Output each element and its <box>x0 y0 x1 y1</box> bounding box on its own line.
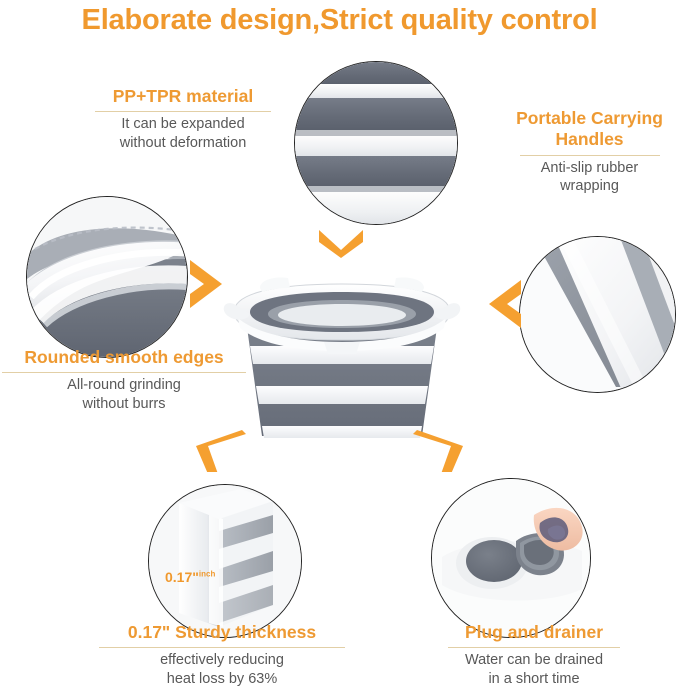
feature-material-subtitle: It can be expanded without deformation <box>70 115 296 152</box>
feature-drainer-rule <box>448 647 620 648</box>
chevron-left-icon <box>487 278 523 330</box>
wall-thickness-graphic <box>149 485 301 637</box>
drain-plug-graphic <box>432 479 590 637</box>
feature-edges-rule <box>2 372 246 373</box>
feature-handles-subtitle: Anti-slip rubber wrapping <box>500 159 679 196</box>
infographic-canvas: Elaborate design,Strict quality control <box>0 0 679 692</box>
feature-handles-rule <box>520 155 660 156</box>
feature-edges-subtitle: All-round grinding without burrs <box>0 376 250 413</box>
chevron-down-icon <box>317 228 365 258</box>
feature-edges-heading: Rounded smooth edges <box>0 347 250 368</box>
striped-bellows-graphic <box>295 62 457 224</box>
feature-thickness-subtitle: effectively reducing heat loss by 63% <box>90 651 354 688</box>
image-striped-bellows-closeup <box>294 61 458 225</box>
feature-material-rule <box>95 111 271 112</box>
image-wall-thickness-closeup: 0.17"inch <box>148 484 302 638</box>
thickness-callout-unit: inch <box>199 569 215 578</box>
feature-drainer-heading: Plug and drainer <box>410 622 658 643</box>
feature-thickness-heading: 0.17" Sturdy thickness <box>90 622 354 643</box>
feature-drainer-subtitle: Water can be drained in a short time <box>410 651 658 688</box>
page-title: Elaborate design,Strict quality control <box>0 4 679 37</box>
feature-material-heading: PP+TPR material <box>70 86 296 107</box>
handle-graphic <box>520 237 675 392</box>
feature-handles-heading: Portable Carrying Handles <box>500 108 679 151</box>
feature-edges: Rounded smooth edges All-round grinding … <box>0 347 250 413</box>
chevron-down-right-icon <box>411 428 463 472</box>
feature-handles: Portable Carrying Handles Anti-slip rubb… <box>500 108 679 196</box>
thickness-callout-value: 0.17" <box>165 569 199 585</box>
collapsible-basket-graphic <box>216 258 468 448</box>
product-image-collapsible-basket <box>216 258 468 448</box>
image-handle-closeup <box>519 236 676 393</box>
feature-drainer: Plug and drainer Water can be drained in… <box>410 622 658 688</box>
chevron-right-icon <box>188 258 224 310</box>
rounded-rim-graphic <box>27 197 187 357</box>
thickness-callout: 0.17"inch <box>165 569 215 585</box>
feature-thickness: 0.17" Sturdy thickness effectively reduc… <box>90 622 354 688</box>
image-drain-plug-closeup <box>431 478 591 638</box>
feature-material: PP+TPR material It can be expanded witho… <box>70 86 296 152</box>
chevron-down-left-icon <box>196 428 248 472</box>
feature-thickness-rule <box>99 647 345 648</box>
image-rounded-rim-closeup <box>26 196 188 358</box>
